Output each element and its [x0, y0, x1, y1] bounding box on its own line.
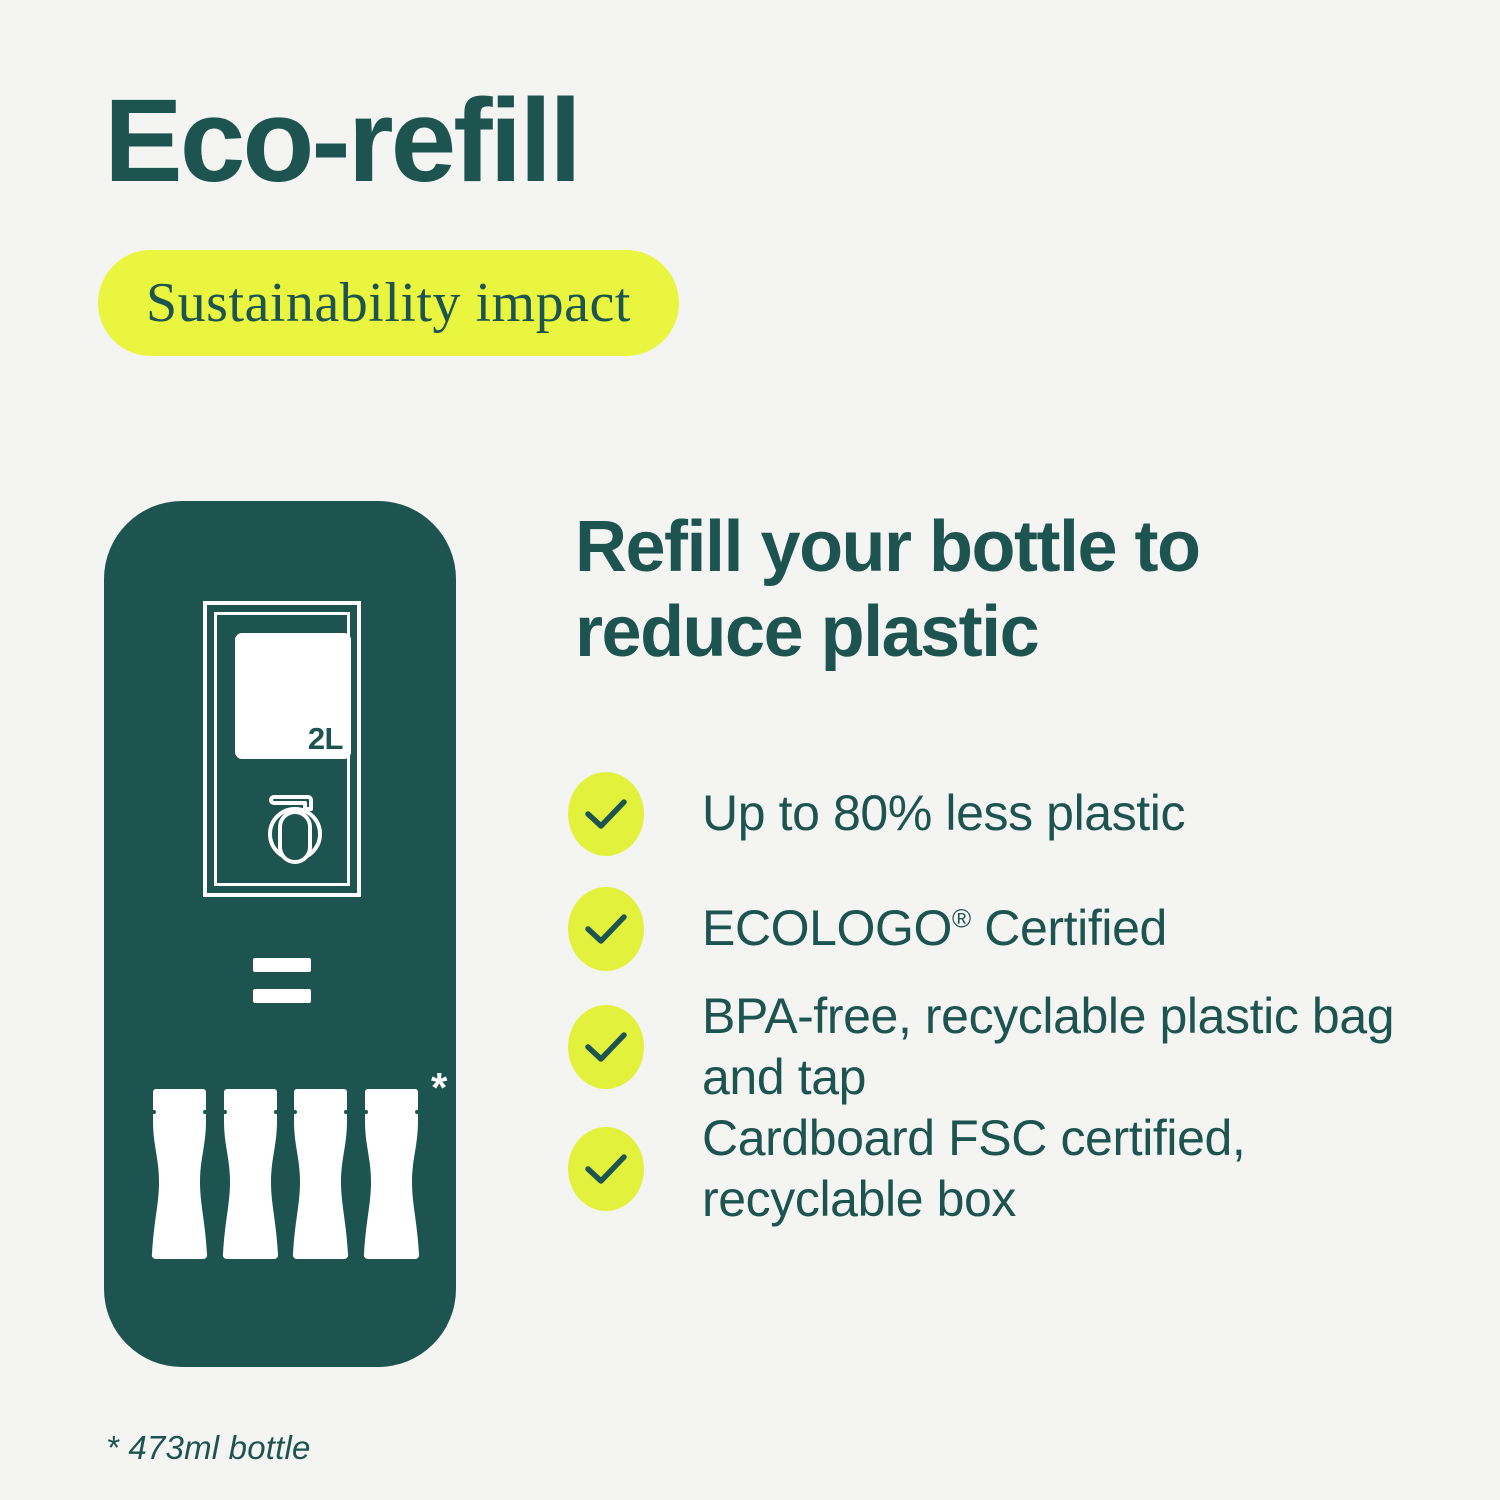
footnote-text: * 473ml bottle — [106, 1429, 311, 1467]
carton-white-label: 2L — [235, 633, 351, 759]
list-item: ECOLOGO® Certified — [568, 871, 1428, 986]
bottle-group — [148, 1085, 422, 1263]
page-title: Eco-refill — [104, 82, 579, 200]
feature-label-suffix: Certified — [971, 900, 1167, 956]
carton-inner-frame: 2L — [214, 612, 350, 886]
equals-symbol — [253, 958, 311, 1003]
feature-label: Cardboard FSC certified, recyclable box — [702, 1108, 1428, 1230]
list-item: Up to 80% less plastic — [568, 756, 1428, 871]
bottle-icon — [360, 1085, 422, 1263]
feature-label: BPA-free, recyclable plastic bag and tap — [702, 986, 1428, 1108]
sustainability-impact-badge: Sustainability impact — [98, 250, 679, 356]
registered-trademark-symbol: ® — [952, 903, 971, 933]
equals-bar-bottom — [253, 989, 311, 1003]
feature-list: Up to 80% less plastic ECOLOGO® Certifie… — [568, 756, 1428, 1230]
bottle-icon — [289, 1085, 351, 1263]
tap-icon — [263, 790, 327, 866]
badge-label: Sustainability impact — [146, 271, 631, 335]
check-icon — [568, 1005, 644, 1089]
feature-label: Up to 80% less plastic — [702, 783, 1185, 844]
check-icon — [568, 887, 644, 971]
bottle-icon — [219, 1085, 281, 1263]
refill-carton-icon: 2L — [203, 601, 361, 897]
check-icon — [568, 1127, 644, 1211]
feature-label: ECOLOGO® Certified — [702, 898, 1167, 959]
bottle-footnote-asterisk: * — [431, 1067, 447, 1109]
equals-bar-top — [253, 958, 311, 972]
carton-volume-label: 2L — [308, 721, 343, 757]
feature-label-main: ECOLOGO — [702, 900, 952, 956]
list-item: Cardboard FSC certified, recyclable box — [568, 1108, 1428, 1230]
check-icon — [568, 772, 644, 856]
list-item: BPA-free, recyclable plastic bag and tap — [568, 986, 1428, 1108]
bottle-icon — [148, 1085, 210, 1263]
eco-refill-infographic: Eco-refill Sustainability impact 2L — [0, 0, 1500, 1500]
main-headline: Refill your bottle to reduce plastic — [575, 505, 1365, 675]
illustration-panel: 2L — [104, 501, 456, 1367]
